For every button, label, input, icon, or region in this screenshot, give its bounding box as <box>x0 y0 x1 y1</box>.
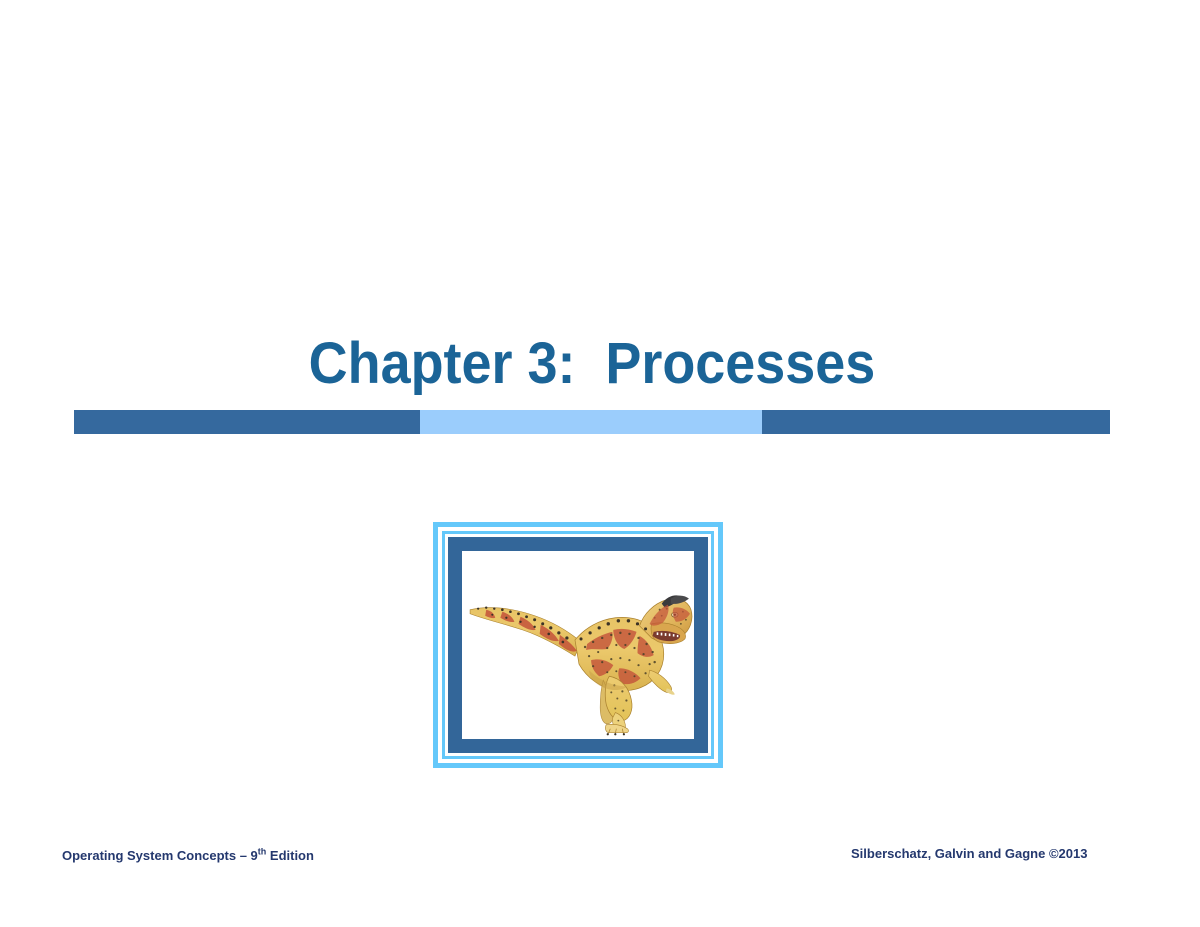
picture-frame-steel-border <box>448 537 708 753</box>
dinosaur-illustration-image <box>462 551 694 739</box>
picture-mat <box>462 551 694 739</box>
picture-frame-cyan-border-inner <box>442 531 714 759</box>
divider-bar-segment-right <box>762 410 1110 434</box>
picture-frame-white-border-outer <box>438 527 718 763</box>
footer-left-text: Operating System Concepts – 9th Edition <box>62 848 314 863</box>
picture-frame-white-border-inner <box>445 534 711 756</box>
footer-edition-suffix: Edition <box>266 848 314 863</box>
divider-bar-segment-middle <box>420 410 762 434</box>
footer-book-title: Operating System Concepts – 9 <box>62 848 258 863</box>
slide-title-text: Chapter 3: Processes <box>110 330 1073 398</box>
footer-edition-superscript: th <box>258 847 267 857</box>
page-title: Chapter 3: Processes <box>74 330 1110 398</box>
footer-copyright-text: Silberschatz, Galvin and Gagne ©2013 <box>851 846 1087 861</box>
divider-bar <box>74 410 1110 434</box>
divider-bar-segment-left <box>74 410 420 434</box>
presentation-slide: Chapter 3: Processes <box>0 0 1200 927</box>
picture-frame <box>433 522 723 768</box>
